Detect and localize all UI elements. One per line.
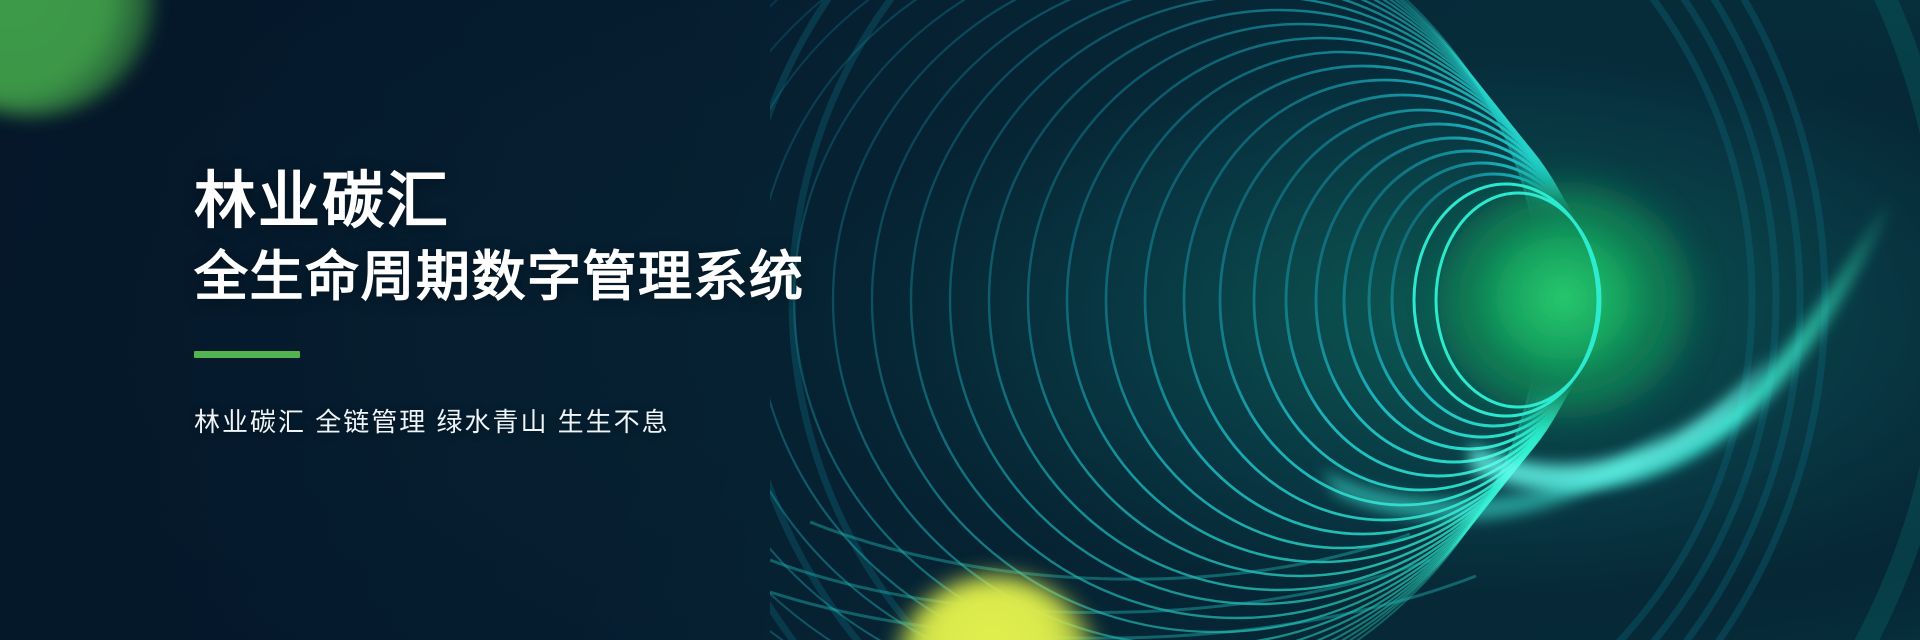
headline-line-2: 全生命周期数字管理系统 xyxy=(194,246,1014,310)
hero-banner: 林业碳汇 全生命周期数字管理系统 林业碳汇 全链管理 绿水青山 生生不息 xyxy=(0,0,1920,640)
tagline: 林业碳汇 全链管理 绿水青山 生生不息 xyxy=(194,402,1014,439)
hero-content: 林业碳汇 全生命周期数字管理系统 林业碳汇 全链管理 绿水青山 生生不息 xyxy=(194,0,1014,640)
accent-divider xyxy=(194,351,300,358)
headline-line-1: 林业碳汇 xyxy=(194,165,1014,238)
